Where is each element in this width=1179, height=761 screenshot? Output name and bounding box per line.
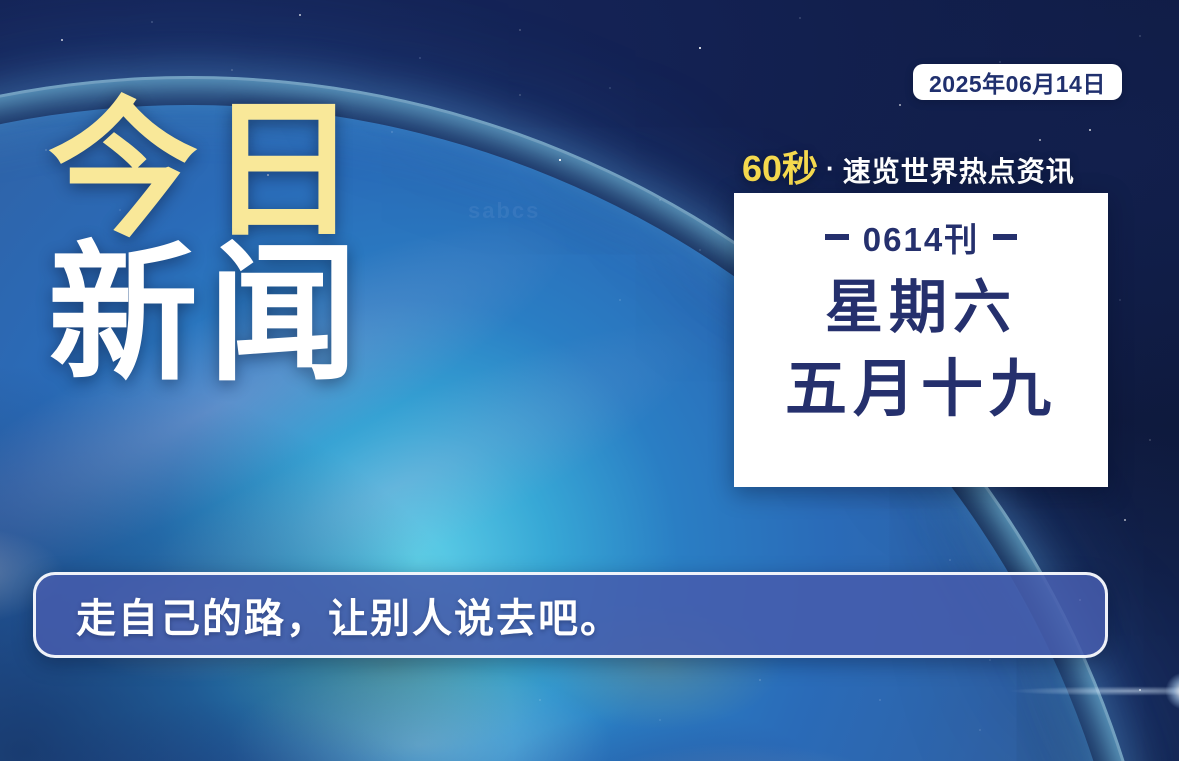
- news-poster: sabcs 今日 新闻 2025年06月14日 60秒 · 速览世界热点资讯 0…: [0, 0, 1179, 761]
- dash-right-icon: [993, 234, 1017, 240]
- issue-number: 0614刊: [863, 213, 979, 261]
- date-info-card: 0614刊 星期六 五月十九: [734, 193, 1108, 487]
- headline-line-1: 今日: [48, 98, 368, 242]
- tagline-description: 速览世界热点资讯: [843, 150, 1075, 190]
- dash-left-icon: [825, 234, 849, 240]
- weekday-label: 星期六: [825, 279, 1017, 337]
- tagline-seconds: 60秒: [742, 140, 818, 192]
- page-title: 今日 新闻: [48, 98, 368, 386]
- quote-banner: 走自己的路，让别人说去吧。: [33, 572, 1108, 658]
- quote-text: 走自己的路，让别人说去吧。: [76, 586, 622, 644]
- tagline: 60秒 · 速览世界热点资讯: [742, 140, 1075, 192]
- issue-number-row: 0614刊: [825, 213, 1017, 261]
- tagline-separator-icon: ·: [826, 153, 835, 184]
- lunar-date-label: 五月十九: [785, 359, 1057, 421]
- date-badge: 2025年06月14日: [913, 64, 1122, 100]
- headline-line-2: 新闻: [48, 242, 368, 386]
- poster-content: 今日 新闻 2025年06月14日 60秒 · 速览世界热点资讯 0614刊 星…: [0, 0, 1179, 761]
